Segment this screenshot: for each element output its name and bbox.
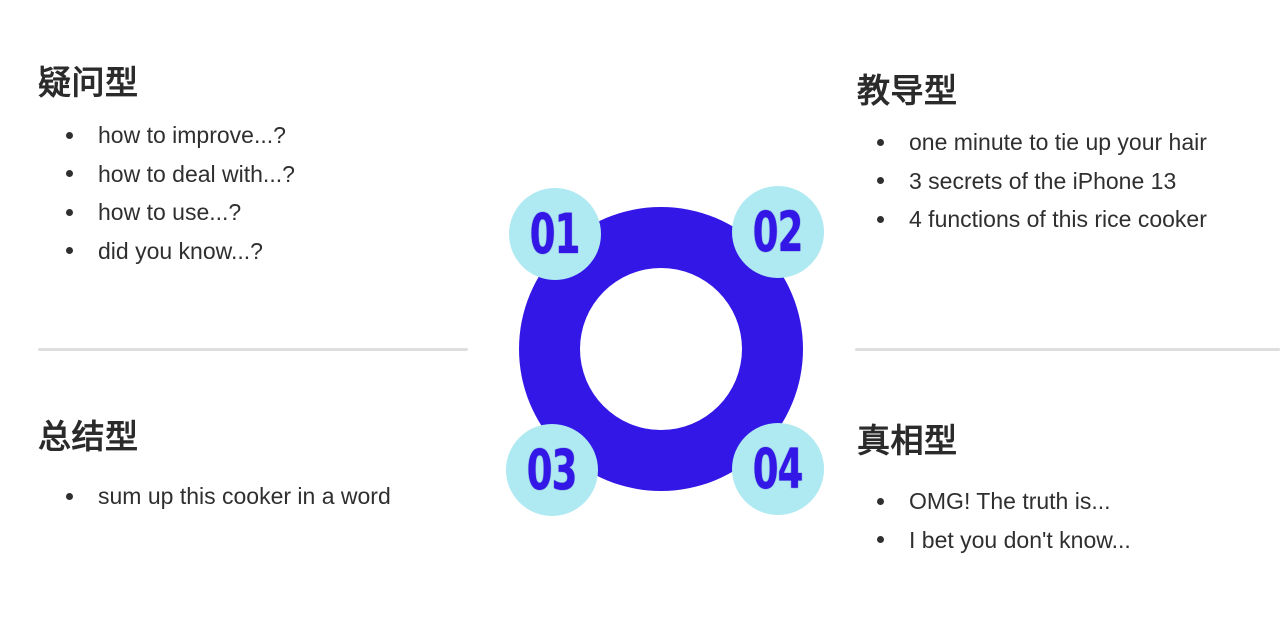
quadrant-bottom-left-list: sum up this cooker in a word bbox=[66, 477, 391, 516]
list-item: sum up this cooker in a word bbox=[66, 477, 391, 516]
quadrant-top-left-heading: 疑问型 bbox=[38, 66, 295, 99]
list-item-label: sum up this cooker in a word bbox=[98, 483, 391, 509]
divider-left bbox=[38, 348, 468, 351]
list-item-label: how to deal with...? bbox=[98, 161, 295, 187]
badge-01[interactable]: 01 bbox=[509, 188, 601, 280]
bullet-icon bbox=[66, 132, 73, 139]
diagram-canvas: 疑问型 how to improve...? how to deal with.… bbox=[0, 0, 1280, 641]
list-item: how to use...? bbox=[66, 193, 295, 232]
list-item: 4 functions of this rice cooker bbox=[877, 200, 1207, 239]
list-item-label: did you know...? bbox=[98, 238, 263, 264]
quadrant-top-right: 教导型 one minute to tie up your hair 3 sec… bbox=[857, 74, 1207, 239]
quadrant-bottom-left-heading: 总结型 bbox=[38, 420, 391, 453]
badge-04[interactable]: 04 bbox=[732, 423, 824, 515]
list-item: how to deal with...? bbox=[66, 155, 295, 194]
bullet-icon bbox=[877, 177, 884, 184]
donut-hole bbox=[580, 268, 742, 430]
bullet-icon bbox=[66, 247, 73, 254]
quadrant-bottom-right-list: OMG! The truth is... I bet you don't kno… bbox=[877, 482, 1131, 559]
bullet-icon bbox=[877, 216, 884, 223]
quadrant-bottom-right-heading: 真相型 bbox=[857, 424, 1131, 457]
badge-number: 02 bbox=[753, 205, 803, 260]
bullet-icon bbox=[66, 493, 73, 500]
list-item-label: I bet you don't know... bbox=[909, 527, 1131, 553]
list-item-label: one minute to tie up your hair bbox=[909, 129, 1207, 155]
quadrant-bottom-right: 真相型 OMG! The truth is... I bet you don't… bbox=[857, 424, 1131, 559]
quadrant-top-right-list: one minute to tie up your hair 3 secrets… bbox=[877, 123, 1207, 239]
quadrant-top-right-heading: 教导型 bbox=[857, 74, 1207, 107]
bullet-icon bbox=[877, 498, 884, 505]
divider-right bbox=[855, 348, 1280, 351]
bullet-icon bbox=[877, 536, 884, 543]
list-item: one minute to tie up your hair bbox=[877, 123, 1207, 162]
list-item-label: 4 functions of this rice cooker bbox=[909, 206, 1207, 232]
badge-number: 04 bbox=[753, 442, 803, 497]
list-item: how to improve...? bbox=[66, 116, 295, 155]
bullet-icon bbox=[66, 209, 73, 216]
list-item-label: OMG! The truth is... bbox=[909, 488, 1111, 514]
list-item: 3 secrets of the iPhone 13 bbox=[877, 162, 1207, 201]
list-item: did you know...? bbox=[66, 232, 295, 271]
bullet-icon bbox=[66, 170, 73, 177]
quadrant-top-left: 疑问型 how to improve...? how to deal with.… bbox=[38, 66, 295, 270]
donut-graphic: 01 02 03 04 bbox=[505, 186, 829, 516]
quadrant-top-left-list: how to improve...? how to deal with...? … bbox=[66, 116, 295, 270]
list-item-label: how to use...? bbox=[98, 199, 241, 225]
badge-number: 01 bbox=[530, 207, 580, 262]
badge-03[interactable]: 03 bbox=[506, 424, 598, 516]
list-item-label: how to improve...? bbox=[98, 122, 286, 148]
list-item: I bet you don't know... bbox=[877, 521, 1131, 560]
list-item-label: 3 secrets of the iPhone 13 bbox=[909, 168, 1176, 194]
list-item: OMG! The truth is... bbox=[877, 482, 1131, 521]
badge-number: 03 bbox=[527, 443, 577, 498]
bullet-icon bbox=[877, 139, 884, 146]
quadrant-bottom-left: 总结型 sum up this cooker in a word bbox=[38, 420, 391, 516]
badge-02[interactable]: 02 bbox=[732, 186, 824, 278]
